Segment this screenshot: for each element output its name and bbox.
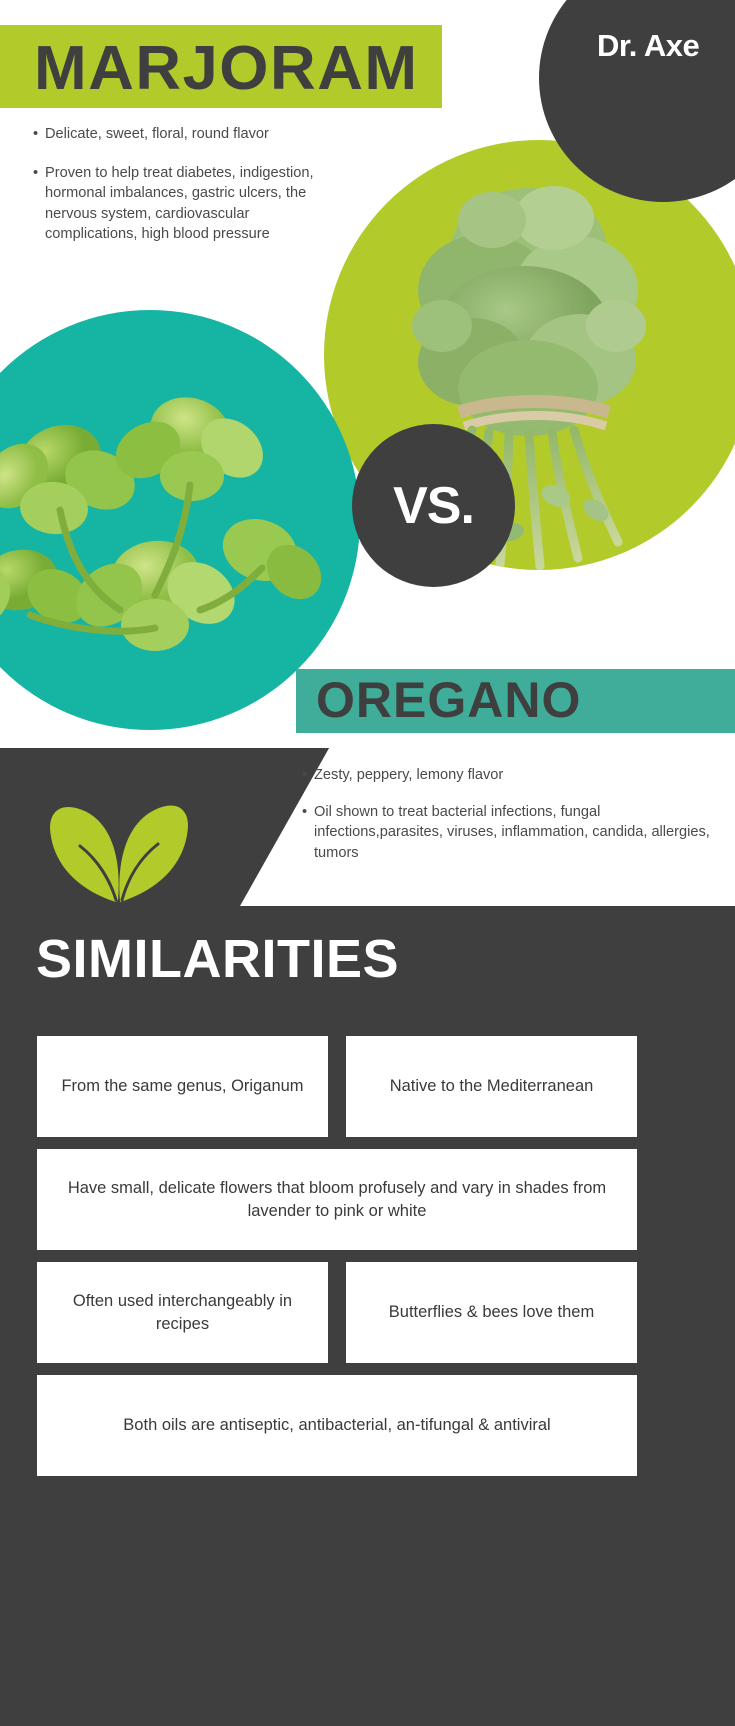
similarity-card: Often used interchangeably in recipes	[37, 1262, 328, 1363]
page-title: SIMILARITIES	[36, 928, 399, 990]
oregano-title-bar: OREGANO	[296, 669, 735, 733]
similarity-card: Both oils are antiseptic, antibacterial,…	[37, 1375, 637, 1476]
similarity-card: Butterflies & bees love them	[346, 1262, 637, 1363]
marjoram-title-bar: MARJORAM	[0, 25, 442, 108]
oregano-title: OREGANO	[316, 671, 581, 729]
marjoram-title: MARJORAM	[34, 33, 419, 104]
versus-badge: VS.	[352, 424, 515, 587]
brand-logo-text: Dr. Axe	[597, 28, 699, 64]
similarity-card: From the same genus, Origanum	[37, 1036, 328, 1137]
oregano-bullet-list: Zesty, peppery, lemony flavor Oil shown …	[302, 765, 722, 879]
marjoram-photo-circle	[0, 310, 360, 730]
leaf-icon-svg	[38, 798, 200, 906]
similarities-row: Have small, delicate flowers that bloom …	[37, 1149, 637, 1250]
top-comparison-section: MARJORAM Delicate, sweet, floral, round …	[0, 0, 735, 748]
similarities-grid: From the same genus, Origanum Native to …	[37, 1036, 637, 1488]
marjoram-sprigs-illustration	[0, 310, 360, 730]
leaf-icon	[38, 798, 200, 906]
similarities-row: Both oils are antiseptic, antibacterial,…	[37, 1375, 637, 1476]
similarities-row: From the same genus, Origanum Native to …	[37, 1036, 637, 1137]
marjoram-bullet-list: Delicate, sweet, floral, round flavor Pr…	[33, 124, 333, 263]
similarities-row: Often used interchangeably in recipes Bu…	[37, 1262, 637, 1363]
list-item: Oil shown to treat bacterial infections,…	[302, 802, 722, 864]
similarity-card: Native to the Mediterranean	[346, 1036, 637, 1137]
list-item: Delicate, sweet, floral, round flavor	[33, 124, 333, 145]
similarity-card: Have small, delicate flowers that bloom …	[37, 1149, 637, 1250]
versus-label: VS.	[352, 424, 515, 587]
infographic-page: MARJORAM Delicate, sweet, floral, round …	[0, 0, 735, 1726]
list-item: Proven to help treat diabetes, indigesti…	[33, 163, 333, 245]
list-item: Zesty, peppery, lemony flavor	[302, 765, 722, 786]
